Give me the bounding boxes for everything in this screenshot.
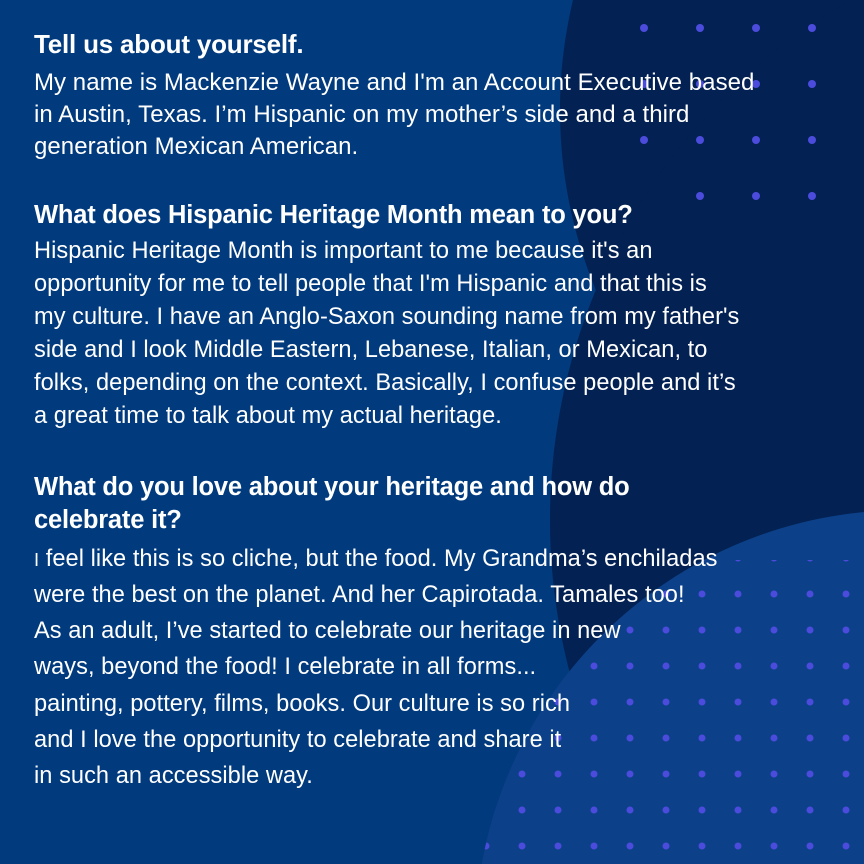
heritage-story-card: Tell us about yourself. My name is Macke… (0, 0, 864, 864)
answer-text-about-yourself: My name is Mackenzie Wayne and I'm an Ac… (34, 67, 830, 163)
answer-text-love-and-celebrate: I feel like this is so cliche, but the f… (34, 541, 830, 794)
answer-body: feel like this is so cliche, but the foo… (34, 546, 717, 789)
qa-block-love-and-celebrate: What do you love about your heritage and… (34, 471, 830, 794)
qa-block-heritage-month-meaning: What does Hispanic Heritage Month mean t… (34, 199, 830, 433)
question-heading-love-and-celebrate: What do you love about your heritage and… (34, 471, 830, 537)
question-heading-about-yourself: Tell us about yourself. (34, 28, 830, 62)
qa-block-about-yourself: Tell us about yourself. My name is Macke… (34, 28, 830, 163)
story-content: Tell us about yourself. My name is Macke… (0, 0, 864, 794)
answer-text-heritage-month-meaning: Hispanic Heritage Month is important to … (34, 235, 830, 433)
question-heading-heritage-month-meaning: What does Hispanic Heritage Month mean t… (34, 199, 830, 232)
